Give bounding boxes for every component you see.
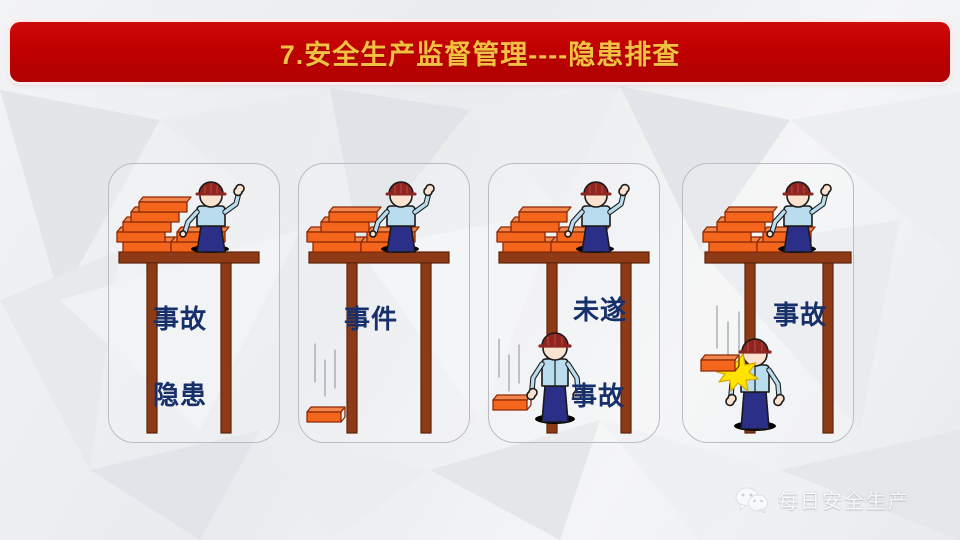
watermark-text: 每日安全生产 (778, 485, 910, 514)
panel-accident[interactable]: 事故 (682, 163, 854, 443)
motion-lines-icon (717, 306, 739, 362)
panel-hazard-label-1: 事故 (153, 299, 207, 336)
wechat-icon (735, 487, 769, 513)
panel-accident-art (683, 164, 853, 442)
panel-near-miss-label-1: 未遂 (573, 290, 627, 327)
watermark: 每日安全生产 (735, 485, 910, 514)
panel-hazard-label-2: 隐患 (153, 375, 207, 412)
panel-group: 事故 隐患 (0, 0, 960, 540)
table-icon (309, 252, 449, 433)
panel-near-miss[interactable]: 未遂 事故 (488, 163, 660, 443)
panel-accident-label-1: 事故 (773, 295, 827, 332)
panel-incident[interactable]: 事件 (298, 163, 470, 443)
scene-accident (683, 164, 853, 442)
panel-near-miss-label-2: 事故 (571, 376, 625, 413)
panel-hazard[interactable]: 事故 隐患 (108, 163, 280, 443)
motion-lines-icon (499, 339, 519, 391)
falling-brick-icon (307, 407, 345, 422)
slide-canvas: 7.安全生产监督管理----隐患排查 (0, 0, 960, 540)
panel-incident-label-1: 事件 (344, 299, 398, 336)
motion-lines-icon (315, 344, 335, 396)
impact-brick-icon (701, 355, 739, 371)
falling-brick-icon (493, 395, 531, 410)
